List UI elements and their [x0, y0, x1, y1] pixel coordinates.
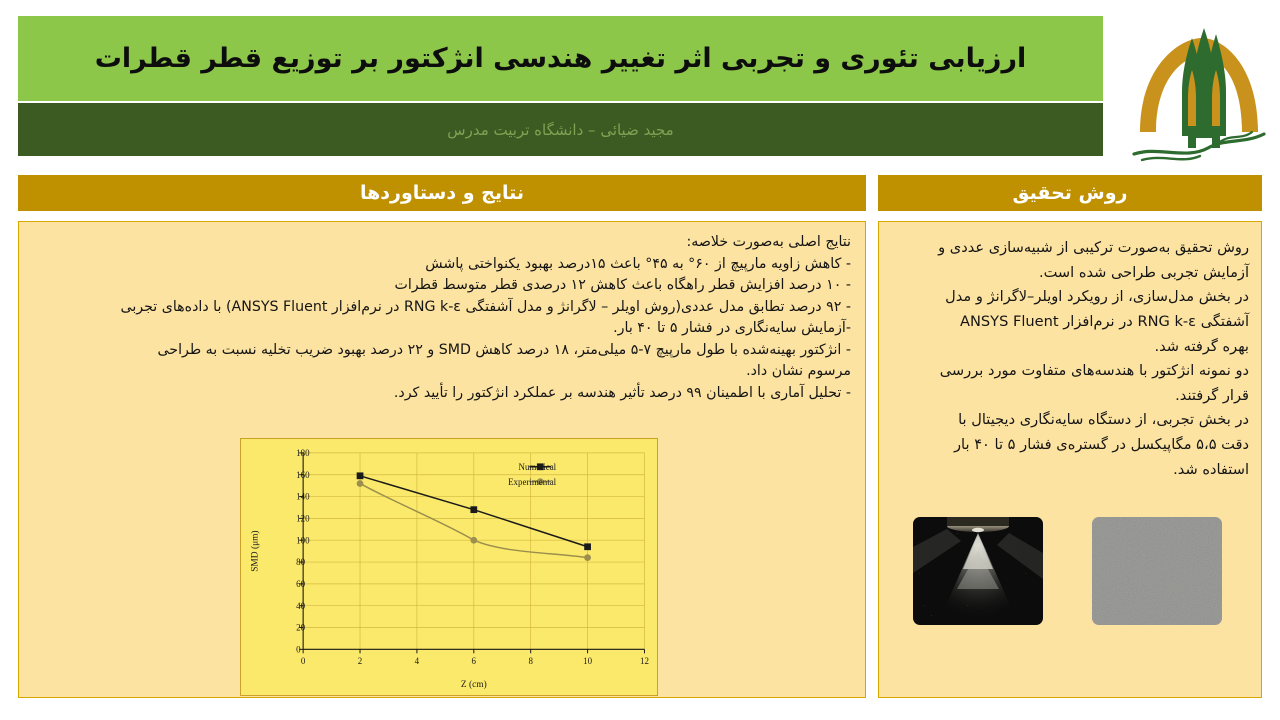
panel-results-header: نتایج و دستاوردها: [18, 175, 866, 211]
method-line: استفاده شد.: [891, 458, 1249, 482]
droplet-deposition-photo: [1092, 517, 1222, 625]
svg-text:SMD (μm): SMD (μm): [249, 530, 260, 571]
svg-text:6: 6: [472, 656, 477, 666]
svg-text:180: 180: [296, 448, 310, 458]
method-line: آزمایش تجربی طراحی شده است.: [891, 261, 1249, 285]
svg-text:120: 120: [296, 514, 310, 524]
svg-text:60: 60: [296, 579, 305, 589]
results-line: - انژکتور بهینه‌شده با طول مارپیچ ۷-۵ می…: [33, 340, 851, 362]
method-line: در بخش تجربی، از دستگاه سایه‌نگاری دیجیت…: [891, 408, 1249, 432]
author-affiliation: مجید ضیائی – دانشگاه تربیت مدرس: [447, 121, 673, 139]
method-line: دقت ۵،۵ مگاپیکسل در گستره‌ی فشار ۵ تا ۴۰…: [891, 433, 1249, 457]
results-line: -آزمایش سایه‌نگاری در فشار ۵ تا ۴۰ بار.: [33, 318, 851, 340]
svg-text:140: 140: [296, 492, 310, 502]
results-line: - کاهش زاویه مارپیچ از ۶۰° به ۴۵° باعث ۱…: [33, 254, 851, 276]
svg-text:Numerical: Numerical: [519, 462, 557, 472]
svg-text:4: 4: [415, 656, 420, 666]
svg-text:8: 8: [528, 656, 533, 666]
method-text-block: روش تحقیق به‌صورت ترکیبی از شبیه‌سازی عد…: [891, 236, 1249, 481]
results-line: - ۱۰ درصد افزایش قطر راهگاه باعث کاهش ۱۲…: [33, 275, 851, 297]
svg-text:80: 80: [296, 557, 305, 567]
svg-text:12: 12: [640, 656, 649, 666]
poster-canvas: ارزیابی تئوری و تجربی اثر تغییر هندسی ان…: [0, 0, 1280, 720]
svg-text:40: 40: [296, 601, 305, 611]
svg-text:Experimental: Experimental: [508, 477, 557, 487]
panel-method-body: روش تحقیق به‌صورت ترکیبی از شبیه‌سازی عد…: [878, 221, 1262, 698]
results-line: نتایج اصلی به‌صورت خلاصه:: [33, 232, 851, 254]
svg-text:0: 0: [301, 656, 306, 666]
method-line: بهره گرفته شد.: [891, 335, 1249, 359]
page-title: ارزیابی تئوری و تجربی اثر تغییر هندسی ان…: [81, 43, 1041, 74]
panel-results-header-label: نتایج و دستاوردها: [360, 182, 524, 204]
svg-text:2: 2: [358, 656, 362, 666]
svg-text:20: 20: [296, 623, 305, 633]
panel-method-header: روش تحقیق: [878, 175, 1262, 211]
method-line: دو نمونه انژکتور با هندسه‌های متفاوت مور…: [891, 359, 1249, 383]
results-line: - ۹۲ درصد تطابق مدل عددی(روش اویلر – لاگ…: [33, 297, 851, 319]
results-line: مرسوم نشان داد.: [33, 361, 851, 383]
method-photo-row: [888, 513, 1246, 629]
method-line: روش تحقیق به‌صورت ترکیبی از شبیه‌سازی عد…: [891, 236, 1249, 260]
poster-author-bar: مجید ضیائی – دانشگاه تربیت مدرس: [18, 103, 1103, 156]
spray-cone-shadowgraphy-photo: [913, 517, 1043, 625]
panel-method: روش تحقیق روش تحقیق به‌صورت ترکیبی از شب…: [878, 175, 1262, 698]
svg-text:10: 10: [583, 656, 592, 666]
method-line: قرار گرفتند.: [891, 384, 1249, 408]
svg-text:100: 100: [296, 535, 310, 545]
svg-text:Z (cm): Z (cm): [461, 679, 487, 690]
results-line: - تحلیل آماری با اطمینان ۹۹ درصد تأثیر ه…: [33, 383, 851, 405]
smd-vs-z-chart: 020406080100120140160180024681012Z (cm)S…: [240, 438, 658, 696]
svg-text:0: 0: [296, 645, 301, 655]
method-line: آشفتگی RNG k-ε در نرم‌افزار ANSYS Fluent: [891, 310, 1249, 334]
svg-text:160: 160: [296, 470, 310, 480]
panel-method-header-label: روش تحقیق: [1013, 182, 1128, 204]
panel-results: نتایج و دستاوردها نتایج اصلی به‌صورت خلا…: [18, 175, 866, 698]
university-logo: [1124, 14, 1274, 166]
results-text-block: نتایج اصلی به‌صورت خلاصه: - کاهش زاویه م…: [33, 232, 851, 405]
poster-title-bar: ارزیابی تئوری و تجربی اثر تغییر هندسی ان…: [18, 16, 1103, 101]
method-line: در بخش مدل‌سازی، از رویکرد اویلر–لاگرانژ…: [891, 285, 1249, 309]
panel-results-body: نتایج اصلی به‌صورت خلاصه: - کاهش زاویه م…: [18, 221, 866, 698]
